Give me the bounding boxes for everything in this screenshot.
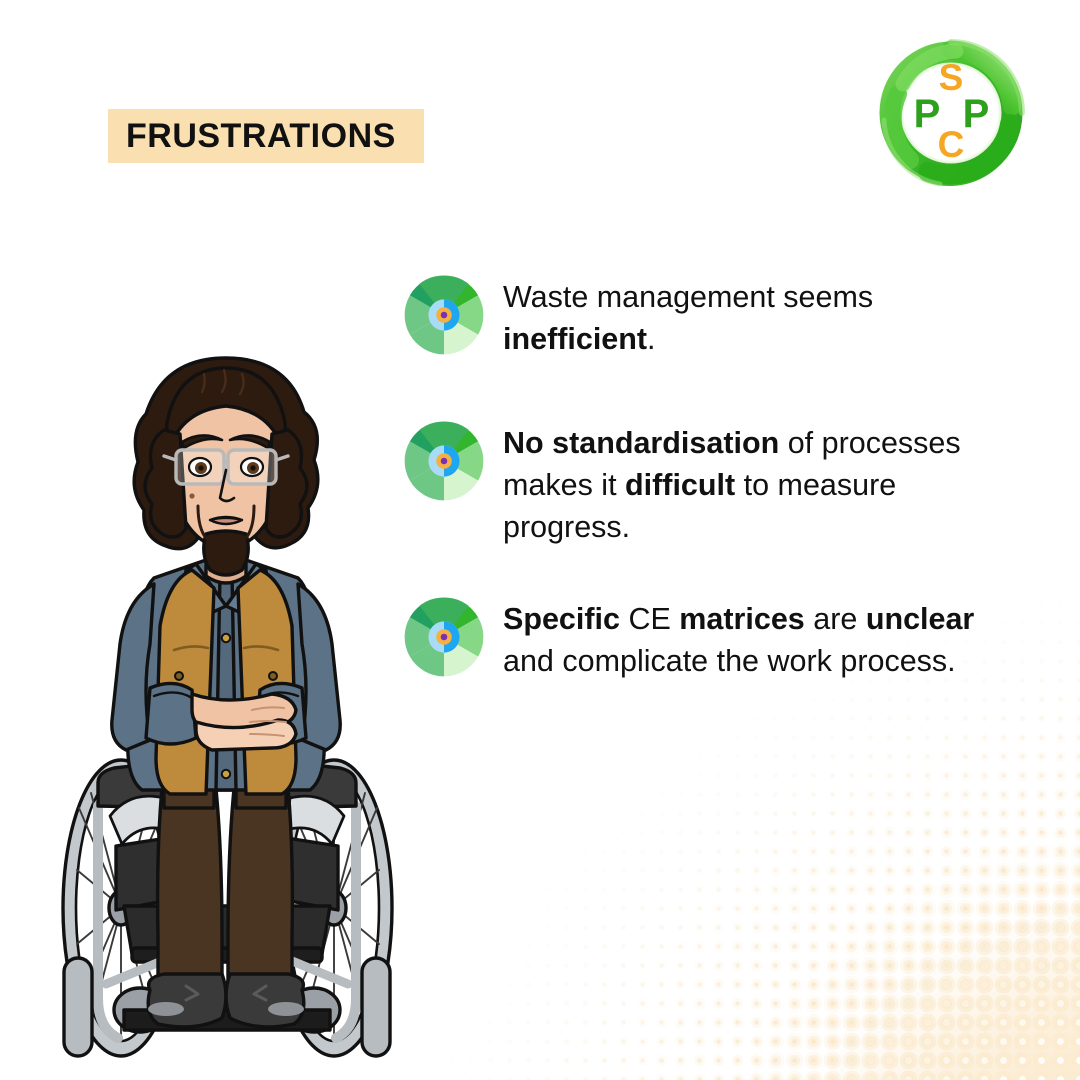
- bullet-text: No standardisation of processes makes it…: [503, 414, 1023, 548]
- logo-letter-top: S: [939, 57, 964, 98]
- green-pie-wheel-icon: [403, 274, 485, 356]
- bullet-text: Specific CE matrices are unclear and com…: [503, 590, 1023, 682]
- bullet-text-part: Waste management seems: [503, 280, 873, 314]
- logo-letter-right: P: [963, 92, 990, 136]
- bullet-text-part-bold: No standardisation: [503, 426, 779, 460]
- bullet-text: Waste management seems inefficient.: [503, 268, 1023, 360]
- bullet-text-part: .: [647, 322, 655, 356]
- page-title: FRUSTRATIONS: [108, 117, 396, 156]
- bullet-item-waste-management: Waste management seems inefficient.: [403, 268, 1023, 360]
- slide-root: FRUSTRATIONS: [0, 0, 1080, 1080]
- bullet-text-part-bold: Specific: [503, 602, 620, 636]
- title-banner: FRUSTRATIONS: [108, 109, 424, 163]
- bullet-text-part: CE: [620, 602, 679, 636]
- bullet-list: Waste management seems inefficient.: [403, 268, 1023, 704]
- green-pie-wheel-icon: [403, 596, 485, 678]
- persona-illustration: [46, 338, 406, 1080]
- sppc-logo: S P P C: [870, 32, 1032, 194]
- bullet-text-part: and complicate the work process.: [503, 644, 956, 678]
- bullet-text-part-bold: inefficient: [503, 322, 647, 356]
- bullet-text-part: are: [805, 602, 866, 636]
- bullet-text-part-bold: unclear: [866, 602, 975, 636]
- green-pie-wheel-icon: [403, 420, 485, 502]
- bullet-item-no-standardisation: No standardisation of processes makes it…: [403, 414, 1023, 548]
- logo-letter-bottom: C: [938, 124, 965, 165]
- logo-letter-left: P: [914, 92, 941, 136]
- bullet-item-ce-matrices: Specific CE matrices are unclear and com…: [403, 590, 1023, 682]
- bullet-text-part-bold: matrices: [679, 602, 804, 636]
- bullet-text-part-bold: difficult: [625, 468, 735, 502]
